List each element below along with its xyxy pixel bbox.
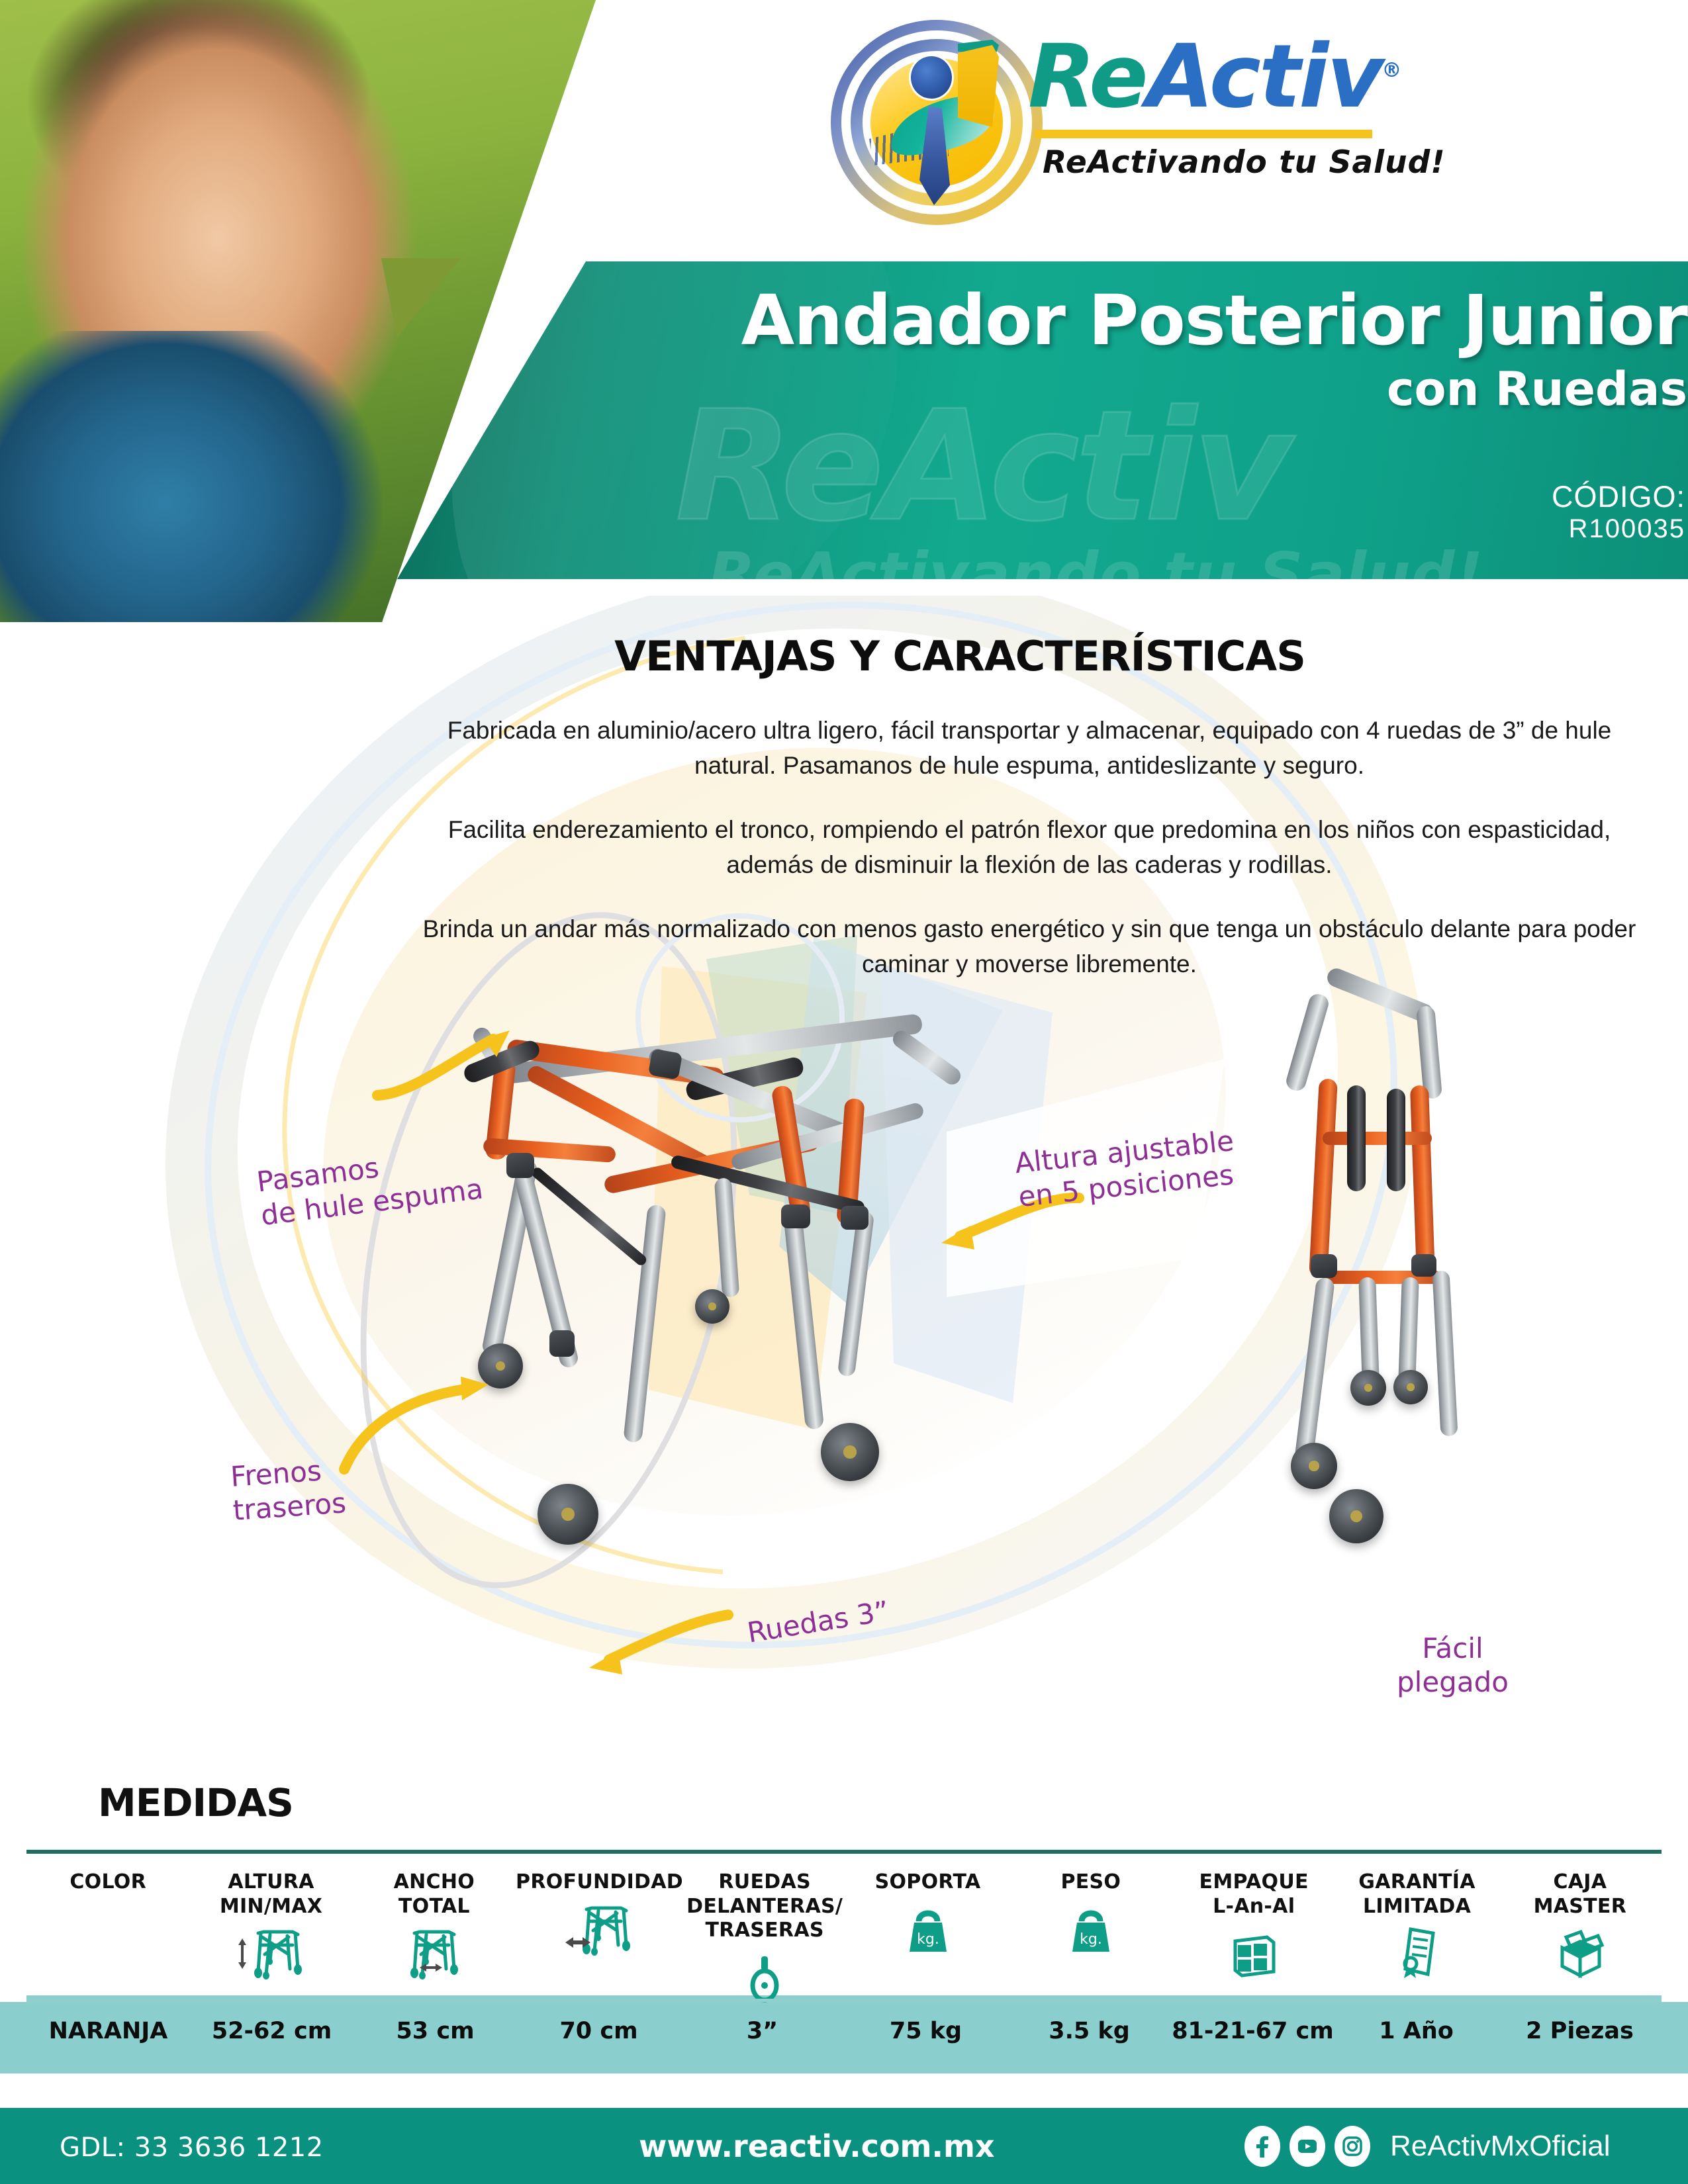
page-subtitle: con Ruedas (1387, 362, 1687, 416)
weight-kg-icon-2: kg. (1009, 1895, 1172, 1958)
walker-height-icon (189, 1919, 352, 1982)
feature-paragraph-1: Fabricada en aluminio/acero ultra ligero… (407, 713, 1652, 783)
th-color: COLOR (26, 1853, 189, 1895)
certificate-icon (1335, 1919, 1498, 1982)
weight-kg-icon: kg. (846, 1895, 1009, 1958)
wheel-mid-icon (695, 1289, 729, 1324)
callout-arrow-wheels (569, 1602, 735, 1681)
th-ancho: ANCHO TOTAL (353, 1853, 516, 1982)
page-title: Andador Posterior Junior (741, 285, 1687, 355)
youtube-icon[interactable] (1289, 2126, 1325, 2167)
td-ancho: 53 cm (353, 2018, 517, 2044)
footer-social-handle[interactable]: ReActivMxOficial (1390, 2130, 1611, 2163)
flyer-page: ReActiv® ReActivando tu Salud! ReActiv R… (0, 0, 1688, 2184)
callout-folding: Fácil plegado (1397, 1631, 1509, 1699)
wheel-front-right-icon (821, 1423, 879, 1481)
logo-activ-text: Activ (1147, 26, 1382, 128)
code-label: CÓDIGO: (1552, 480, 1685, 514)
instagram-icon[interactable] (1335, 2126, 1370, 2167)
open-box-icon (1499, 1919, 1662, 1982)
td-ruedas: 3” (680, 2018, 844, 2044)
brand-logo: ReActiv® ReActivando tu Salud! (831, 13, 1446, 232)
folded-wheel-4-icon (1329, 1489, 1383, 1543)
th-color-label: COLOR (26, 1870, 189, 1895)
td-caja-master: 2 Piezas (1498, 2018, 1662, 2044)
package-icon (1172, 1919, 1335, 1982)
callout-arrow-handrails (371, 1016, 530, 1109)
feature-paragraph-3: Brinda un andar más normalizado con meno… (407, 912, 1652, 981)
th-garantia: GARANTÍA LIMITADA (1335, 1853, 1498, 1982)
walker-depth-icon (516, 1895, 683, 1958)
facebook-icon[interactable] (1244, 2126, 1280, 2167)
measures-table: COLOR ALTURA MIN/MAX (26, 1853, 1662, 2067)
th-ruedas: RUEDAS DELANTERAS/ TRASERAS (683, 1853, 846, 2007)
feature-paragraph-2: Facilita enderezamiento el tronco, rompi… (407, 813, 1652, 882)
folded-wheel-3-icon (1393, 1370, 1428, 1404)
registered-mark-icon: ® (1382, 59, 1399, 82)
walker-width-icon (353, 1919, 516, 1982)
footer-website[interactable]: www.reactiv.com.mx (639, 2128, 995, 2164)
table-bottom-rule (26, 1999, 1662, 2002)
th-peso: PESO kg. (1009, 1853, 1172, 1958)
logo-underline (1035, 130, 1372, 138)
callout-folding-line2: plegado (1397, 1665, 1509, 1699)
table-header-row: COLOR ALTURA MIN/MAX (26, 1853, 1662, 1995)
wheel-icon (683, 1943, 846, 2007)
td-color: NARANJA (26, 2018, 190, 2044)
logo-re-text: Re (1028, 26, 1147, 128)
features-heading: VENTAJAS Y CARACTERÍSTICAS (0, 632, 1688, 680)
td-soporta: 75 kg (844, 2018, 1008, 2044)
td-altura: 52-62 cm (190, 2018, 353, 2044)
td-garantia: 1 Año (1335, 2018, 1498, 2044)
folded-wheel-1-icon (1291, 1443, 1337, 1489)
callout-arrow-brakes (331, 1363, 496, 1476)
th-empaque: EMPAQUE L-An-Al (1172, 1853, 1335, 1982)
footer-phone[interactable]: GDL: 33 3636 1212 (60, 2132, 324, 2163)
product-photo-folded-walker (1244, 986, 1549, 1602)
logo-tagline: ReActivando tu Salud! (1043, 144, 1446, 181)
td-empaque: 81-21-67 cm (1171, 2018, 1335, 2044)
th-profundidad: PROFUNDIDAD (516, 1853, 683, 1958)
td-profundidad: 70 cm (517, 2018, 680, 2044)
folded-wheel-2-icon (1350, 1370, 1386, 1406)
footer-social: ReActivMxOficial (1244, 2126, 1611, 2167)
measures-title: MEDIDAS (98, 1780, 293, 1825)
wheel-front-left-icon (538, 1484, 598, 1545)
logo-emblem-icon (831, 20, 1043, 225)
th-soporta: SOPORTA kg. (846, 1853, 1009, 1958)
th-caja-master: CAJA MASTER (1499, 1853, 1662, 1982)
th-altura: ALTURA MIN/MAX (189, 1853, 352, 1982)
code-value: R100035 (1569, 514, 1685, 544)
logo-wordmark: ReActiv® ReActivando tu Salud! (1028, 33, 1399, 120)
callout-folding-line1: Fácil (1397, 1631, 1509, 1665)
td-peso: 3.5 kg (1008, 2018, 1171, 2044)
svg-text:kg.: kg. (1080, 1931, 1102, 1948)
banner-watermark: ReActiv (675, 397, 1288, 537)
banner-watermark-tagline: ReActivando tu Salud! (708, 539, 1483, 579)
callout-brakes: Frenos traseros (230, 1452, 348, 1527)
svg-text:kg.: kg. (917, 1931, 939, 1948)
product-title-banner: ReActiv ReActivando tu Salud! Andador Po… (397, 261, 1688, 579)
